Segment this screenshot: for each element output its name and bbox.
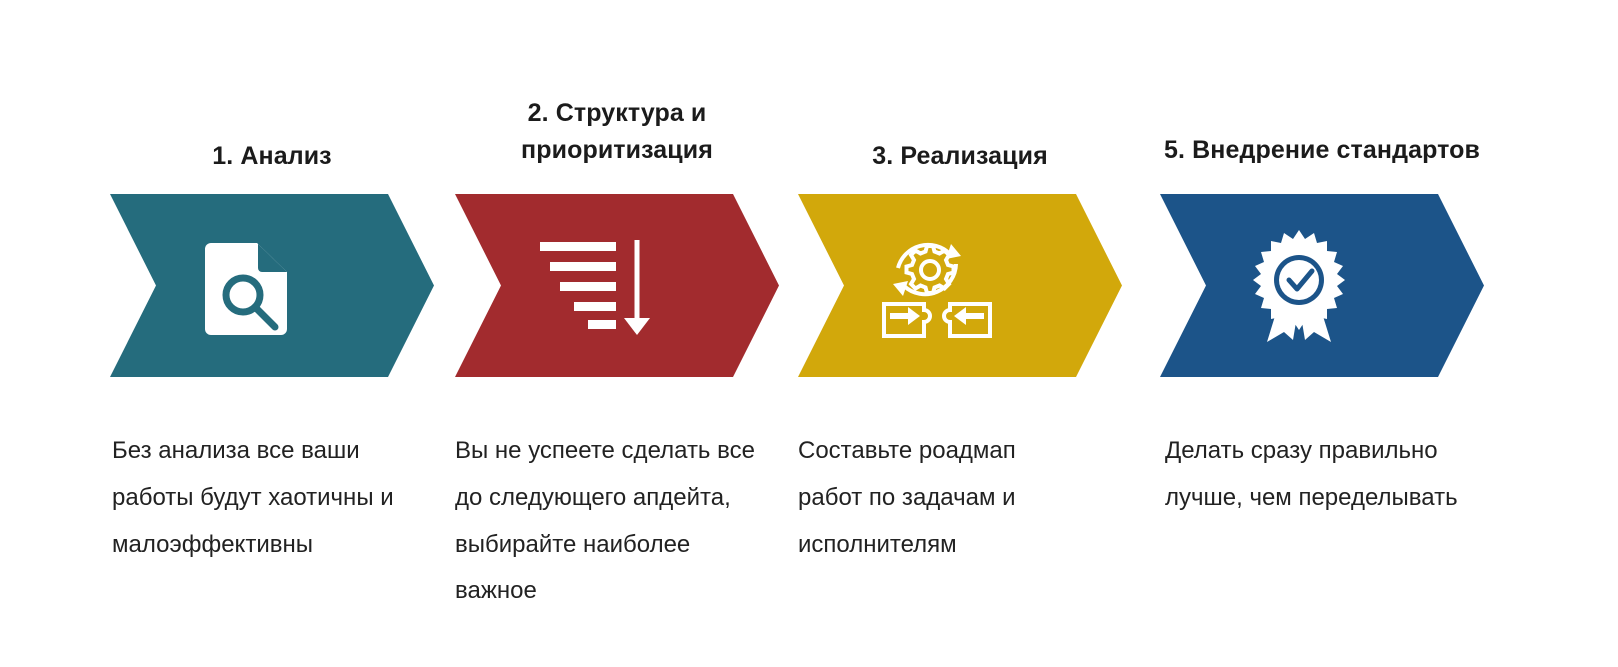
- step-4-chevron: [1160, 194, 1484, 377]
- process-step-2: 2. Структура и приоритизация Вы не успее…: [455, 0, 779, 667]
- step-3-caption: Составьте роадмап работ по задачам и исп…: [798, 428, 1078, 568]
- chevron-shape-3: [798, 194, 1122, 377]
- step-3-title: 3. Реализация: [798, 58, 1122, 176]
- step-1-caption: Без анализа все ваши работы будут хаотич…: [112, 428, 442, 568]
- process-step-3: 3. Реализация: [798, 0, 1122, 667]
- chevron-shape-1: [110, 194, 434, 377]
- step-4-title: 5. Внедрение стандартов: [1160, 52, 1484, 170]
- process-step-4: 5. Внедрение стандартов Делать сразу пра…: [1160, 0, 1484, 667]
- step-2-chevron: [455, 194, 779, 377]
- step-2-caption: Вы не успеете сделать все до следующего …: [455, 428, 755, 615]
- step-3-chevron: [798, 194, 1122, 377]
- step-1-chevron: [110, 194, 434, 377]
- step-4-caption: Делать сразу правильно лучше, чем переде…: [1165, 428, 1495, 522]
- process-step-1: 1. Анализ Без анализа все ваши работы бу…: [110, 0, 434, 667]
- step-2-title: 2. Структура и приоритизация: [455, 52, 779, 170]
- step-1-title: 1. Анализ: [110, 58, 434, 176]
- chevron-shape-2: [455, 194, 779, 377]
- chevron-shape-4: [1160, 194, 1484, 377]
- process-infographic: 1. Анализ Без анализа все ваши работы бу…: [0, 0, 1618, 667]
